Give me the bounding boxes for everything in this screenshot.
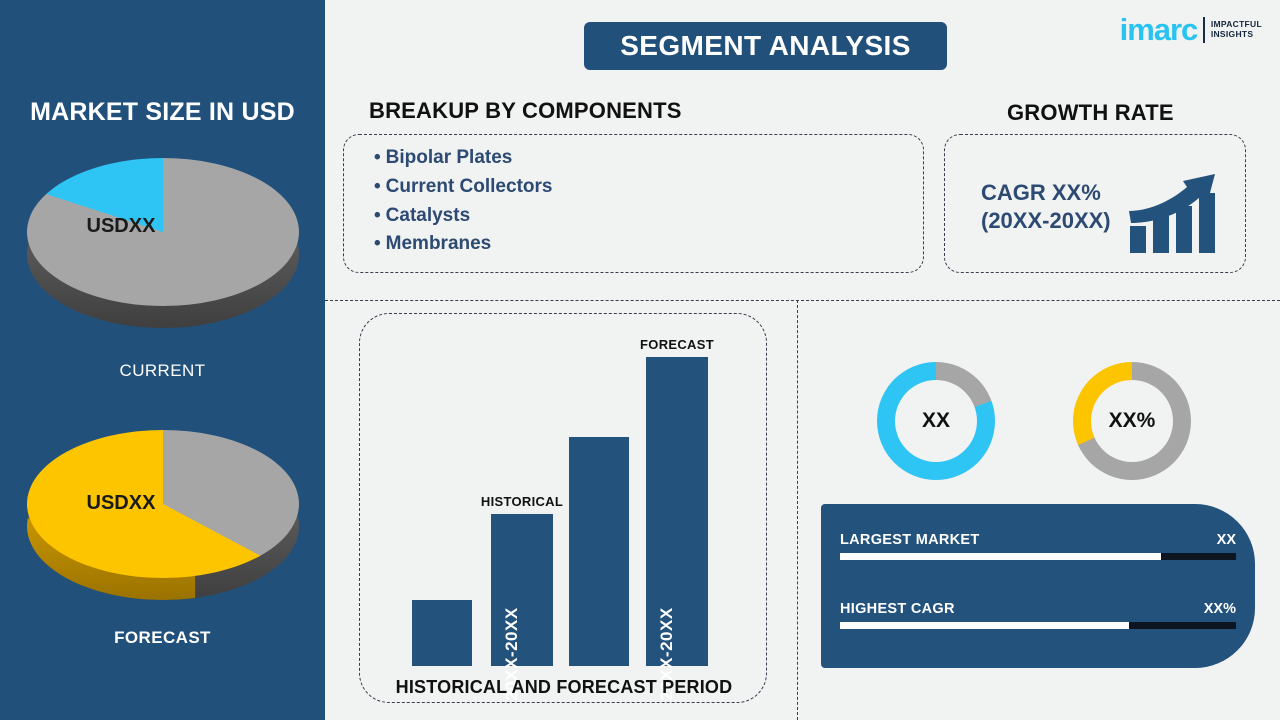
logo-divider [1203, 17, 1205, 43]
cagr-text: CAGR XX% (20XX-20XX) [981, 179, 1111, 235]
donut-right-value: XX% [1109, 409, 1156, 433]
bar-4-top-label: FORECAST [640, 337, 714, 352]
stat-row-1-head: LARGEST MARKET XX [840, 526, 1236, 548]
pie-chart-current: USDXX [27, 158, 299, 333]
stat-row-2-label: HIGHEST CAGR [840, 601, 955, 617]
header-banner: SEGMENT ANALYSIS [584, 22, 947, 70]
stat-row-highest-cagr: HIGHEST CAGR XX% [840, 595, 1236, 629]
stat-row-2-fill [840, 622, 1129, 629]
pie-forecast-label: USDXX [87, 492, 156, 515]
growth-rate-box: CAGR XX% (20XX-20XX) [944, 134, 1246, 273]
logo-wordmark: imarc [1120, 14, 1198, 45]
bullet-icon: • [374, 147, 381, 168]
component-label: Catalysts [386, 205, 471, 226]
components-list: •Bipolar Plates •Current Collectors •Cat… [374, 144, 552, 259]
pie-chart-current-wrapper: USDXX [0, 158, 325, 333]
donut-right-hole: XX% [1091, 380, 1173, 462]
stat-row-2-track [840, 622, 1236, 629]
cagr-period-line: (20XX-20XX) [981, 207, 1111, 235]
sidebar-title: MARKET SIZE IN USD [0, 98, 325, 127]
bar-1 [412, 600, 472, 666]
component-label: Membranes [386, 233, 492, 254]
component-label: Current Collectors [386, 176, 553, 197]
donut-left-value: XX [922, 409, 950, 433]
largest-market-donut: XX [877, 362, 995, 480]
stat-row-1-track [840, 553, 1236, 560]
logo-tagline-line2: INSIGHTS [1211, 30, 1262, 40]
stat-row-1-fill [840, 553, 1161, 560]
bullet-icon: • [374, 176, 381, 197]
historical-forecast-chart: HISTORICAL 20XX-20XX FORECAST 20XX-20XX … [359, 313, 767, 703]
pie-forecast-caption: FORECAST [0, 628, 325, 648]
bullet-icon: • [374, 205, 381, 226]
growth-rate-heading: GROWTH RATE [1007, 100, 1174, 126]
imarc-logo: imarc IMPACTFUL INSIGHTS [1120, 14, 1262, 45]
stat-row-2-value: XX% [1204, 601, 1236, 617]
infographic-root: MARKET SIZE IN USD USDXX CURRENT USDXX F… [0, 0, 1280, 720]
page-title: SEGMENT ANALYSIS [620, 30, 911, 62]
stats-panel: LARGEST MARKET XX HIGHEST CAGR XX% [821, 504, 1255, 668]
list-item: •Catalysts [374, 202, 552, 231]
cagr-value-line: CAGR XX% [981, 179, 1111, 207]
pie-chart-forecast: USDXX [27, 430, 299, 605]
stat-row-2-head: HIGHEST CAGR XX% [840, 595, 1236, 617]
donut-left-hole: XX [895, 380, 977, 462]
list-item: •Membranes [374, 230, 552, 259]
components-heading: BREAKUP BY COMPONENTS [369, 98, 682, 124]
bar-2-top-label: HISTORICAL [481, 494, 563, 509]
horizontal-divider [325, 300, 1280, 301]
stat-row-largest-market: LARGEST MARKET XX [840, 526, 1236, 560]
growth-arrow-bars-icon [1127, 171, 1223, 260]
bar-3 [569, 437, 629, 666]
list-item: •Bipolar Plates [374, 144, 552, 173]
pie-current-caption: CURRENT [0, 361, 325, 381]
list-item: •Current Collectors [374, 173, 552, 202]
bar-chart-plot-area: HISTORICAL 20XX-20XX FORECAST 20XX-20XX … [360, 314, 768, 704]
vertical-divider [797, 300, 798, 720]
pie-current-label: USDXX [87, 215, 156, 238]
highest-cagr-donut: XX% [1073, 362, 1191, 480]
sidebar: MARKET SIZE IN USD USDXX CURRENT USDXX F… [0, 0, 325, 720]
bar-chart-caption: HISTORICAL AND FORECAST PERIOD [360, 677, 768, 698]
logo-tagline: IMPACTFUL INSIGHTS [1211, 20, 1262, 40]
component-label: Bipolar Plates [386, 147, 513, 168]
bullet-icon: • [374, 233, 381, 254]
bar-4: FORECAST 20XX-20XX [646, 357, 708, 666]
bar-2: HISTORICAL 20XX-20XX [491, 514, 553, 666]
pie-chart-forecast-wrapper: USDXX [0, 430, 325, 605]
pie-forecast-top [27, 430, 299, 578]
components-box: •Bipolar Plates •Current Collectors •Cat… [343, 134, 924, 273]
stat-row-1-value: XX [1217, 532, 1236, 548]
pie-current-top [27, 158, 299, 306]
stat-row-1-label: LARGEST MARKET [840, 532, 980, 548]
